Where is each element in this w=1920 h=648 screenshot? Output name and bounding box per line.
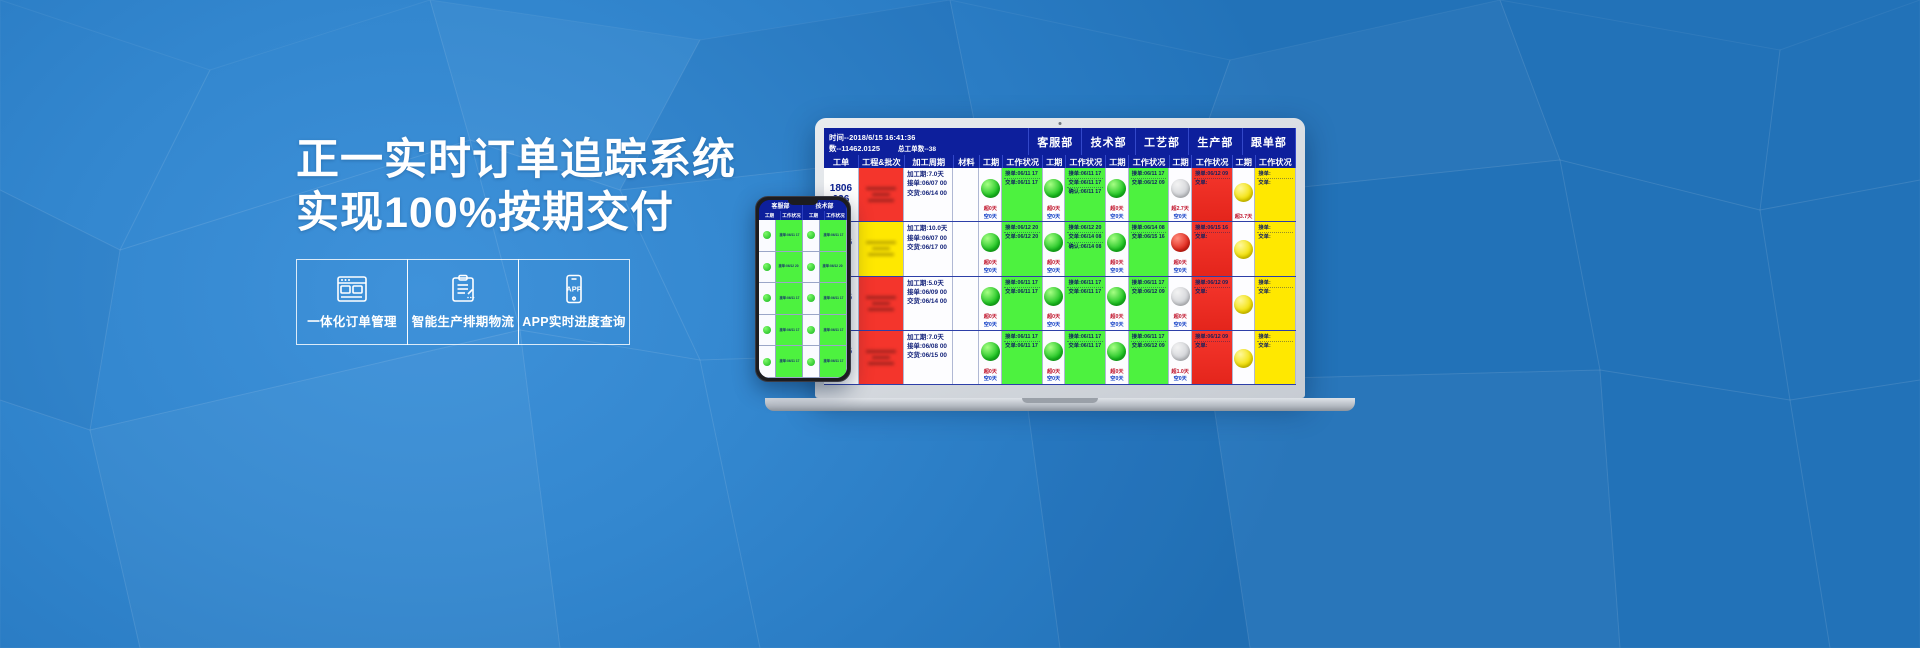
overdue-badge: 超0天	[1043, 206, 1065, 213]
list-item[interactable]: 接单:06/11 17	[776, 315, 802, 347]
cell-processing-cycle: 加工期:7.0天接单:06/08 00交货:06/15 00	[904, 331, 953, 384]
department-production: 生产部	[1189, 128, 1242, 155]
phone-cell-text: 接单:06/11 17	[823, 359, 843, 364]
status-line: 接单:	[1257, 279, 1293, 288]
phone-cell-text: 接单:06/11 17	[823, 328, 843, 333]
list-item[interactable]: 接单:06/11 17	[820, 220, 846, 252]
department-customer-service: 客服部	[1029, 128, 1082, 155]
overdue-badge: 超0天	[1106, 369, 1128, 376]
idle-badge: 空0天	[1043, 376, 1065, 383]
status-dot-yellow	[1234, 183, 1253, 202]
cell-material	[953, 277, 979, 330]
status-line: 确认:06/11 17	[1067, 188, 1103, 196]
idle-badge: 空0天	[1043, 214, 1065, 221]
phone-col-duration-tech	[803, 220, 820, 378]
phone-col-duration-cs	[759, 220, 776, 378]
phone-col-status-cs: 接单:06/11 17 接单:06/12 20 接单:06/11 17 接单:0…	[776, 220, 803, 378]
cell-work-status[interactable]: 接单:交单:	[1255, 331, 1296, 384]
cell-duration: 超0天空0天	[979, 277, 1002, 330]
status-line: 接单:	[1257, 224, 1293, 233]
cell-work-status[interactable]: 接单:06/12 09交单:	[1192, 277, 1233, 330]
cell-work-status[interactable]: 接单:06/12 20交单:06/12 20	[1002, 222, 1043, 275]
idle-badge: 空0天	[1106, 214, 1128, 221]
cell-work-status[interactable]: 接单:06/12 09交单:	[1192, 331, 1233, 384]
cell-duration: 超1.0天空0天	[1169, 331, 1192, 384]
idle-badge: 空0天	[1043, 322, 1065, 329]
list-item[interactable]	[759, 252, 775, 284]
duration-tags: 超0天空0天	[1106, 314, 1128, 329]
status-dot	[763, 358, 771, 366]
meta-counter: 数--11462.0125	[829, 143, 880, 154]
status-line: 交单:06/12 09	[1131, 179, 1167, 187]
status-line: 交单:06/11 17	[1067, 342, 1103, 350]
status-line: 接单:06/11 17	[1067, 333, 1103, 342]
status-line: 交单:06/15 16	[1131, 233, 1167, 241]
cell-duration: 超0天空0天	[1106, 331, 1129, 384]
status-line: 交单:	[1257, 288, 1293, 296]
cycle-line: 交货:06/15 00	[907, 351, 947, 360]
duration-tags: 超0天空0天	[1106, 369, 1128, 384]
redacted-text	[859, 222, 903, 275]
status-dot-green	[1107, 287, 1126, 306]
table-row[interactable]: 1806036加工期:7.0天接单:06/07 00交货:06/14 00超0天…	[824, 168, 1296, 222]
idle-badge: 空0天	[1169, 322, 1191, 329]
laptop-mockup: 时间--2018/6/15 16:41:36 数--11462.0125 总工单…	[815, 118, 1355, 411]
status-dot	[763, 263, 771, 271]
laptop-lid: 时间--2018/6/15 16:41:36 数--11462.0125 总工单…	[815, 118, 1305, 398]
col-duration-tech: 工期	[1043, 155, 1066, 168]
feature-label: APP实时进度查询	[522, 311, 625, 330]
feature-label: 智能生产排期物流	[412, 311, 514, 330]
cell-project-batch	[859, 331, 904, 384]
duration-tags: 超0天空0天	[1043, 260, 1065, 275]
cell-duration: 超3.7天	[1233, 168, 1256, 221]
cell-duration	[1233, 331, 1256, 384]
duration-tags: 超0天空0天	[979, 369, 1001, 384]
status-dot-grey	[1171, 179, 1190, 198]
status-line: 接单:06/12 20	[1067, 224, 1103, 233]
status-line: 接单:06/15 16	[1194, 224, 1230, 233]
meta-total-orders: 总工单数--38	[898, 143, 936, 154]
status-line: 交单:06/12 20	[1004, 233, 1040, 241]
cell-work-status[interactable]: 接单:06/11 17交单:06/12 09	[1129, 331, 1170, 384]
order-management-icon	[335, 274, 369, 304]
overdue-badge: 超0天	[979, 260, 1001, 267]
col-duration-merch: 工期	[1233, 155, 1256, 168]
clipboard-schedule-icon	[446, 274, 480, 304]
status-dot-green	[1107, 179, 1126, 198]
cycle-line: 加工期:10.0天	[907, 224, 947, 233]
overdue-badge: 超0天	[1106, 206, 1128, 213]
redacted-text	[859, 331, 903, 384]
cell-work-status[interactable]: 接单:交单:	[1255, 222, 1296, 275]
status-line: 交单:06/12 09	[1131, 288, 1167, 296]
hero-copy: 正一实时订单追踪系统 实现100%按期交付	[296, 134, 716, 240]
cell-duration: 超0天空0天	[1043, 222, 1066, 275]
cell-work-status[interactable]: 接单:06/11 17交单:06/12 09	[1129, 168, 1170, 221]
status-line: 接单:06/11 17	[1131, 333, 1167, 342]
status-line: 接单:06/11 17	[1131, 170, 1167, 179]
col-cycle: 加工周期	[905, 155, 954, 168]
list-item[interactable]: 接单:06/11 17	[820, 283, 846, 315]
feature-app-tracking[interactable]: APP APP实时进度查询	[518, 259, 630, 345]
status-dot-green	[981, 233, 1000, 252]
status-dot-green	[1107, 342, 1126, 361]
cell-work-status[interactable]: 接单:交单:	[1255, 277, 1296, 330]
idle-badge: 空0天	[1106, 322, 1128, 329]
status-line: 接单:	[1257, 170, 1293, 179]
status-line: 接单:06/12 09	[1194, 170, 1230, 179]
list-item[interactable]	[803, 220, 819, 252]
overdue-badge: 超0天	[1169, 260, 1191, 267]
cell-project-batch	[859, 222, 904, 275]
overdue-badge: 超3.7天	[1233, 214, 1255, 221]
list-item[interactable]	[759, 346, 775, 378]
overdue-badge: 超0天	[1106, 314, 1128, 321]
department-process: 工艺部	[1136, 128, 1189, 155]
idle-badge: 空0天	[979, 376, 1001, 383]
table-row[interactable]: 1806040加工期:7.0天接单:06/08 00交货:06/15 00超0天…	[824, 331, 1296, 385]
idle-badge: 空0天	[1169, 214, 1191, 221]
cycle-line: 交货:06/14 00	[907, 297, 947, 306]
status-dot-yellow	[1234, 349, 1253, 368]
feature-label: 一体化订单管理	[307, 311, 397, 330]
laptop-base	[765, 398, 1355, 411]
status-dot-green	[1044, 233, 1063, 252]
list-item[interactable]	[803, 252, 819, 284]
cycle-line: 交货:06/14 00	[907, 189, 947, 198]
col-status-merch: 工作状况	[1256, 155, 1296, 168]
cycle-line: 加工期:5.0天	[907, 279, 947, 288]
cell-duration: 超0天空0天	[1106, 222, 1129, 275]
idle-badge: 空0天	[979, 322, 1001, 329]
phone-sub-col: 工期	[759, 211, 781, 220]
list-item[interactable]	[759, 220, 775, 252]
status-dot-grey	[1171, 342, 1190, 361]
status-line: 接单:06/12 09	[1194, 333, 1230, 342]
dashboard-meta: 时间--2018/6/15 16:41:36 数--11462.0125 总工单…	[824, 128, 1029, 155]
phone-cell-text: 接单:06/11 17	[823, 233, 843, 238]
status-dot-green	[1044, 342, 1063, 361]
cycle-line: 接单:06/07 00	[907, 179, 947, 188]
department-merchandising: 跟单部	[1243, 128, 1296, 155]
overdue-badge: 超0天	[1043, 314, 1065, 321]
col-duration-cs: 工期	[980, 155, 1003, 168]
status-dot-green	[981, 287, 1000, 306]
list-item[interactable]: 接单:06/12 20	[776, 252, 802, 284]
status-dot	[807, 263, 815, 271]
status-dot	[807, 294, 815, 302]
status-line: 交单:	[1194, 288, 1230, 296]
status-line: 接单:06/11 17	[1067, 279, 1103, 288]
idle-badge: 空0天	[979, 268, 1001, 275]
phone-cell-text: 接单:06/11 17	[779, 233, 799, 238]
cell-duration: 超0天空0天	[1169, 222, 1192, 275]
status-dot-green	[1107, 233, 1126, 252]
feature-list: 一体化订单管理 智能生产排期物流 APP	[296, 259, 630, 345]
cell-work-status[interactable]: 接单:06/12 09交单:	[1192, 168, 1233, 221]
list-item[interactable]	[803, 315, 819, 347]
list-item[interactable]	[759, 315, 775, 347]
idle-badge: 空0天	[1043, 268, 1065, 275]
duration-tags: 超2.7天空0天	[1169, 206, 1191, 221]
status-line: 接单:06/12 20	[1004, 224, 1040, 233]
overdue-badge: 超0天	[1043, 260, 1065, 267]
status-line: 交单:06/11 17	[1067, 179, 1103, 188]
cell-material	[953, 331, 979, 384]
dashboard-table-body: 1806036加工期:7.0天接单:06/07 00交货:06/14 00超0天…	[824, 168, 1296, 385]
laptop-screen: 时间--2018/6/15 16:41:36 数--11462.0125 总工单…	[824, 128, 1296, 385]
status-line: 接单:	[1257, 333, 1293, 342]
status-dot	[763, 231, 771, 239]
phone-mockup: 客服部 技术部 工期 工作状况 工期 工作状况 接单:06/11 17 接单:0…	[755, 196, 851, 382]
status-line: 交单:06/12 09	[1131, 342, 1167, 350]
status-line: 接单:06/11 17	[1004, 333, 1040, 342]
status-dot-green	[1044, 179, 1063, 198]
status-line: 交单:06/11 17	[1004, 179, 1040, 187]
cell-material	[953, 222, 979, 275]
status-line: 接单:06/11 17	[1131, 279, 1167, 288]
duration-tags: 超0天空0天	[1043, 206, 1065, 221]
status-dot-green	[981, 342, 1000, 361]
duration-tags: 超0天空0天	[1106, 206, 1128, 221]
status-line: 交单:06/11 17	[1004, 342, 1040, 350]
list-item[interactable]: 接单:06/11 17	[820, 315, 846, 347]
status-line: 交单:	[1257, 179, 1293, 187]
phone-notch	[788, 200, 818, 205]
phone-cell-text: 接单:06/12 20	[823, 264, 843, 269]
phone-cell-text: 接单:06/11 17	[779, 328, 799, 333]
phone-cell-text: 接单:06/12 20	[779, 264, 799, 269]
idle-badge: 空0天	[979, 214, 1001, 221]
headline-line-1: 正一实时订单追踪系统	[296, 134, 716, 187]
duration-tags: 超3.7天	[1233, 214, 1255, 221]
status-dot	[807, 358, 815, 366]
cycle-line: 加工期:7.0天	[907, 170, 947, 179]
col-status-tech: 工作状况	[1066, 155, 1106, 168]
feature-smart-scheduling[interactable]: 智能生产排期物流	[407, 259, 519, 345]
cell-work-status[interactable]: 接单:06/11 17交单:06/11 17	[1065, 277, 1106, 330]
col-duration-prod: 工期	[1170, 155, 1193, 168]
phone-sub-header: 工期 工作状况 工期 工作状况	[759, 211, 847, 220]
cell-duration: 超0天空0天	[1106, 168, 1129, 221]
idle-badge: 空0天	[1169, 268, 1191, 275]
cell-material	[953, 168, 979, 221]
cycle-line: 接单:06/09 00	[907, 288, 947, 297]
status-line: 确认:06/14 08	[1067, 243, 1103, 251]
cell-project-batch	[859, 277, 904, 330]
redacted-text	[859, 168, 903, 221]
duration-tags: 超0天空0天	[1043, 369, 1065, 384]
status-dot	[763, 326, 771, 334]
col-order: 工单	[824, 155, 859, 168]
list-item[interactable]: 接单:06/11 17	[776, 283, 802, 315]
duration-tags: 超0天空0天	[979, 314, 1001, 329]
idle-badge: 空0天	[1106, 376, 1128, 383]
duration-tags: 超0天空0天	[1169, 260, 1191, 275]
status-line: 接单:06/11 17	[1004, 279, 1040, 288]
status-line: 交单:	[1194, 342, 1230, 350]
overdue-badge: 超0天	[1043, 369, 1065, 376]
overdue-badge: 超0天	[979, 314, 1001, 321]
status-line: 接单:06/11 17	[1067, 170, 1103, 179]
status-line: 交单:	[1257, 233, 1293, 241]
cell-work-status[interactable]: 接单:06/11 17交单:06/11 17	[1002, 168, 1043, 221]
cell-work-status[interactable]: 接单:06/11 17交单:06/11 17	[1002, 277, 1043, 330]
col-material: 材料	[954, 155, 980, 168]
list-item[interactable]: 接单:06/12 20	[820, 252, 846, 284]
status-line: 交单:	[1194, 179, 1230, 187]
duration-tags: 超0天空0天	[979, 206, 1001, 221]
meta-line-2: 数--11462.0125 总工单数--38	[829, 143, 1025, 154]
phone-cell-text: 接单:06/11 17	[779, 359, 799, 364]
phone-screen: 客服部 技术部 工期 工作状况 工期 工作状况 接单:06/11 17 接单:0…	[759, 200, 847, 378]
table-row[interactable]: 1806039加工期:5.0天接单:06/09 00交货:06/14 00超0天…	[824, 277, 1296, 331]
cell-duration: 超0天空0天	[1169, 277, 1192, 330]
duration-tags: 超0天空0天	[1043, 314, 1065, 329]
status-line: 交单:06/14 08	[1067, 233, 1103, 242]
duration-tags: 超0天空0天	[1169, 314, 1191, 329]
cell-work-status[interactable]: 接单:06/12 20交单:06/14 08确认:06/14 08	[1065, 222, 1106, 275]
cell-processing-cycle: 加工期:10.0天接单:06/07 00交货:06/17 00	[904, 222, 953, 275]
duration-tags: 超0天空0天	[1106, 260, 1128, 275]
overdue-badge: 超0天	[979, 206, 1001, 213]
status-dot-grey	[1171, 287, 1190, 306]
phone-sub-col: 工期	[803, 211, 825, 220]
mobile-app-icon: APP	[557, 274, 591, 304]
col-status-prod: 工作状况	[1192, 155, 1232, 168]
cell-work-status[interactable]: 接单:06/15 16交单:	[1192, 222, 1233, 275]
cell-duration: 超0天空0天	[979, 222, 1002, 275]
cycle-line: 加工期:7.0天	[907, 333, 947, 342]
dashboard-header: 时间--2018/6/15 16:41:36 数--11462.0125 总工单…	[824, 128, 1296, 155]
cell-project-batch	[859, 168, 904, 221]
status-line: 交单:	[1194, 233, 1230, 241]
cell-work-status[interactable]: 接单:06/11 17交单:06/11 17	[1065, 331, 1106, 384]
feature-order-management[interactable]: 一体化订单管理	[296, 259, 408, 345]
webcam-icon	[1059, 122, 1062, 125]
cell-processing-cycle: 加工期:5.0天接单:06/09 00交货:06/14 00	[904, 277, 953, 330]
list-item[interactable]	[803, 283, 819, 315]
headline-line-2: 实现100%按期交付	[296, 187, 716, 240]
cell-work-status[interactable]: 接单:06/14 08交单:06/15 16	[1129, 222, 1170, 275]
order-tracking-dashboard: 时间--2018/6/15 16:41:36 数--11462.0125 总工单…	[824, 128, 1296, 385]
phone-table-body: 接单:06/11 17 接单:06/12 20 接单:06/11 17 接单:0…	[759, 220, 847, 378]
status-line: 接单:06/12 09	[1194, 279, 1230, 288]
column-header-row: 工单 工程&批次 加工周期 材料 工期 工作状况 工期 工作状况 工期 工作状况…	[824, 155, 1296, 168]
col-duration-proc: 工期	[1106, 155, 1129, 168]
cell-work-status[interactable]: 接单:06/11 17交单:06/11 17确认:06/11 17	[1065, 168, 1106, 221]
cell-duration	[1233, 222, 1256, 275]
cycle-line: 接单:06/08 00	[907, 342, 947, 351]
list-item[interactable]	[803, 346, 819, 378]
col-status-proc: 工作状况	[1129, 155, 1169, 168]
list-item[interactable]	[759, 283, 775, 315]
status-dot-green	[1044, 287, 1063, 306]
idle-badge: 空0天	[1106, 268, 1128, 275]
duration-tags: 超1.0天空0天	[1169, 369, 1191, 384]
status-line: 接单:06/14 08	[1131, 224, 1167, 233]
svg-text:APP: APP	[566, 285, 581, 294]
cell-work-status[interactable]: 接单:06/11 17交单:06/11 17	[1002, 331, 1043, 384]
idle-badge: 空0天	[1169, 376, 1191, 383]
cell-duration: 超0天空0天	[1043, 277, 1066, 330]
duration-tags: 超0天空0天	[979, 260, 1001, 275]
table-row[interactable]: 1806038加工期:10.0天接单:06/07 00交货:06/17 00超0…	[824, 222, 1296, 276]
status-dot-green	[981, 179, 1000, 198]
department-header-cells: 客服部 技术部 工艺部 生产部 跟单部	[1029, 128, 1296, 155]
list-item[interactable]: 接单:06/11 17	[776, 220, 802, 252]
overdue-badge: 超0天	[1169, 314, 1191, 321]
cycle-line: 接单:06/07 00	[907, 234, 947, 243]
phone-sub-col: 工作状况	[825, 211, 847, 220]
list-item[interactable]: 接单:06/11 17	[820, 346, 846, 378]
department-technical: 技术部	[1082, 128, 1135, 155]
overdue-badge: 超0天	[1106, 260, 1128, 267]
status-line: 交单:06/11 17	[1067, 288, 1103, 296]
cell-processing-cycle: 加工期:7.0天接单:06/07 00交货:06/14 00	[904, 168, 953, 221]
col-status-cs: 工作状况	[1003, 155, 1043, 168]
overdue-badge: 超0天	[979, 369, 1001, 376]
status-line: 接单:06/11 17	[1004, 170, 1040, 179]
status-dot-red	[1171, 233, 1190, 252]
cell-duration: 超0天空0天	[1106, 277, 1129, 330]
status-dot	[763, 294, 771, 302]
cell-duration: 超0天空0天	[1043, 331, 1066, 384]
phone-cell-text: 接单:06/11 17	[823, 296, 843, 301]
meta-timestamp: 时间--2018/6/15 16:41:36	[829, 132, 1025, 143]
status-dot-yellow	[1234, 240, 1253, 259]
list-item[interactable]: 接单:06/11 17	[776, 346, 802, 378]
redacted-text	[859, 277, 903, 330]
status-line: 交单:06/11 17	[1004, 288, 1040, 296]
phone-sub-col: 工作状况	[781, 211, 803, 220]
cell-work-status[interactable]: 接单:交单:	[1255, 168, 1296, 221]
status-line: 交单:	[1257, 342, 1293, 350]
overdue-badge: 超2.7天	[1169, 206, 1191, 213]
cell-duration: 超0天空0天	[1043, 168, 1066, 221]
cell-duration: 超2.7天空0天	[1169, 168, 1192, 221]
cell-duration	[1233, 277, 1256, 330]
cycle-line: 交货:06/17 00	[907, 243, 947, 252]
cell-work-status[interactable]: 接单:06/11 17交单:06/12 09	[1129, 277, 1170, 330]
status-dot-yellow	[1234, 295, 1253, 314]
status-dot	[807, 326, 815, 334]
cell-duration: 超0天空0天	[979, 168, 1002, 221]
phone-col-status-tech: 接单:06/11 17 接单:06/12 20 接单:06/11 17 接单:0…	[820, 220, 847, 378]
status-dot	[807, 231, 815, 239]
phone-cell-text: 接单:06/11 17	[779, 296, 799, 301]
col-project: 工程&批次	[859, 155, 905, 168]
overdue-badge: 超1.0天	[1169, 369, 1191, 376]
cell-duration: 超0天空0天	[979, 331, 1002, 384]
